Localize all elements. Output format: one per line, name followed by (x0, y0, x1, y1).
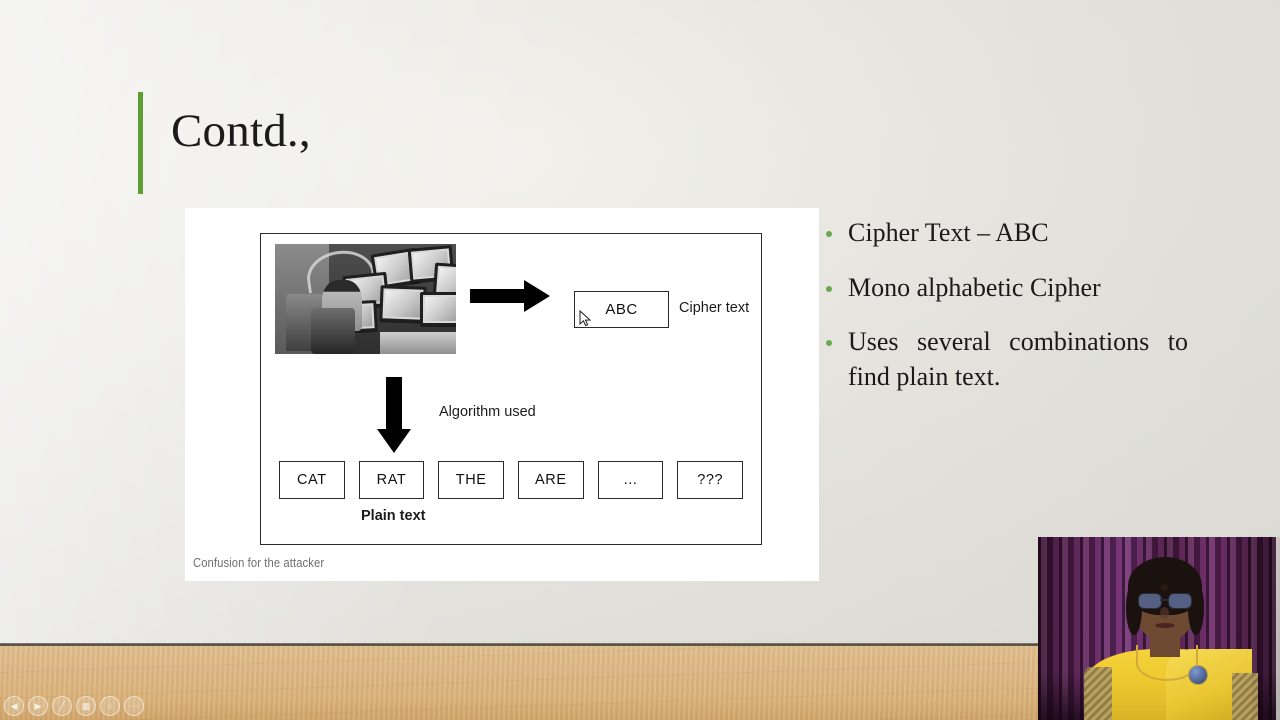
overlay-right-edge (1276, 537, 1280, 720)
slide-grid-button[interactable]: ▦ (76, 696, 96, 716)
list-item: Uses several combinations to find plain … (826, 325, 1206, 394)
page-title: Contd., (171, 108, 311, 155)
plaintext-box: RAT (359, 461, 425, 499)
previous-slide-button[interactable]: ◀ (4, 696, 24, 716)
title-accent-bar (138, 92, 143, 194)
attacker-at-monitors-photo (275, 244, 456, 354)
slide-stage: Contd., ABC (0, 0, 1280, 720)
diagram-panel: ABC Cipher text Algorithm used CAT RAT T… (185, 208, 819, 581)
plaintext-boxes-row: CAT RAT THE ARE … ??? (279, 461, 743, 499)
plaintext-box: … (598, 461, 664, 499)
plaintext-box: THE (438, 461, 504, 499)
bullet-list: Cipher Text – ABC Mono alphabetic Cipher… (826, 216, 1206, 414)
presenter-video-overlay (1038, 537, 1280, 720)
list-item: Cipher Text – ABC (826, 216, 1206, 251)
pen-tool-button[interactable]: ╱ (52, 696, 72, 716)
bullet-dot-icon (826, 231, 832, 237)
presenter-toolbar[interactable]: ◀ ▶ ╱ ▦ ○ ⋯ (4, 696, 144, 716)
bullet-text: Uses several combinations to find plain … (848, 325, 1188, 394)
diagram-frame: ABC Cipher text Algorithm used CAT RAT T… (260, 233, 762, 545)
algorithm-used-label: Algorithm used (439, 404, 536, 420)
plaintext-box: ARE (518, 461, 584, 499)
bullet-text: Cipher Text – ABC (848, 216, 1049, 251)
diagram-caption: Confusion for the attacker (193, 556, 324, 570)
blank-screen-button[interactable]: ○ (100, 696, 120, 716)
plain-text-label: Plain text (361, 508, 425, 524)
cipher-text-label: Cipher text (679, 300, 749, 316)
more-options-button[interactable]: ⋯ (124, 696, 144, 716)
next-slide-button[interactable]: ▶ (28, 696, 48, 716)
bullet-text: Mono alphabetic Cipher (848, 271, 1101, 306)
arrow-right-icon (470, 280, 550, 312)
arrow-down-icon (377, 377, 411, 453)
bullet-dot-icon (826, 286, 832, 292)
bullet-dot-icon (826, 340, 832, 346)
list-item: Mono alphabetic Cipher (826, 271, 1206, 306)
slide-title-block: Contd., (138, 92, 311, 194)
plaintext-box: CAT (279, 461, 345, 499)
plaintext-box: ??? (677, 461, 743, 499)
mouse-pointer-icon (579, 310, 592, 327)
